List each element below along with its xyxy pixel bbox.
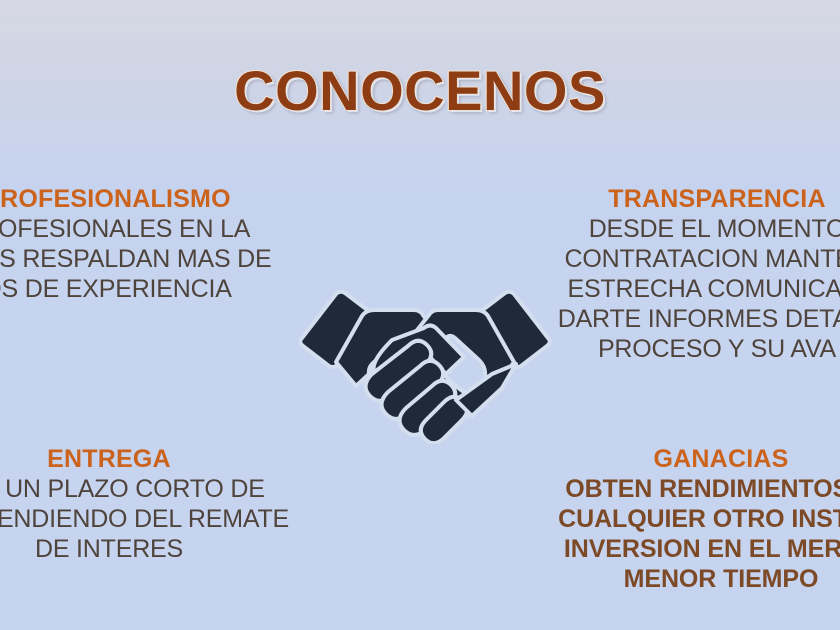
block-ganacias-line-3: INVERSION EN EL MERCA xyxy=(556,534,840,564)
block-transparencia-line-3: ESTRECHA COMUNICACI xyxy=(552,274,840,304)
block-ganacias-line-4: MENOR TIEMPO xyxy=(556,564,840,594)
block-entrega-line-3: DE INTERES xyxy=(0,534,254,564)
block-ganacias: GANACIAS OBTEN RENDIMIENTOS M CUALQUIER … xyxy=(556,444,840,594)
block-profesionalismo-line-2: NOS RESPALDAN MAS DE xyxy=(0,244,252,274)
block-entrega-heading: ENTREGA xyxy=(0,444,254,474)
block-transparencia-line-4: DARTE INFORMES DETALL xyxy=(552,304,840,334)
block-profesionalismo-line-1: PROFESIONALES EN LA xyxy=(0,214,252,244)
block-transparencia-heading: TRANSPARENCIA xyxy=(552,184,840,214)
slide-canvas: CONOCENOS PROFESIONALISMO PROFESIONALES … xyxy=(0,0,840,630)
block-profesionalismo: PROFESIONALISMO PROFESIONALES EN LA NOS … xyxy=(0,184,252,304)
block-entrega: ENTREGA DE UN PLAZO CORTO DE EPENDIENDO … xyxy=(0,444,254,564)
block-ganacias-heading: GANACIAS xyxy=(556,444,840,474)
block-transparencia: TRANSPARENCIA DESDE EL MOMENTO CONTRATAC… xyxy=(552,184,840,364)
page-title: CONOCENOS xyxy=(0,60,840,122)
block-transparencia-line-1: DESDE EL MOMENTO xyxy=(552,214,840,244)
block-profesionalismo-heading: PROFESIONALISMO xyxy=(0,184,252,214)
block-entrega-line-2: EPENDIENDO DEL REMATE xyxy=(0,504,254,534)
block-transparencia-line-5: PROCESO Y SU AVA xyxy=(552,334,840,364)
block-ganacias-line-2: CUALQUIER OTRO INSTRU xyxy=(556,504,840,534)
block-entrega-line-1: DE UN PLAZO CORTO DE xyxy=(0,474,254,504)
block-ganacias-line-1: OBTEN RENDIMIENTOS M xyxy=(556,474,840,504)
handshake-icon xyxy=(296,282,554,444)
block-transparencia-line-2: CONTRATACION MANTEN xyxy=(552,244,840,274)
block-profesionalismo-line-3: OS DE EXPERIENCIA xyxy=(0,274,252,304)
